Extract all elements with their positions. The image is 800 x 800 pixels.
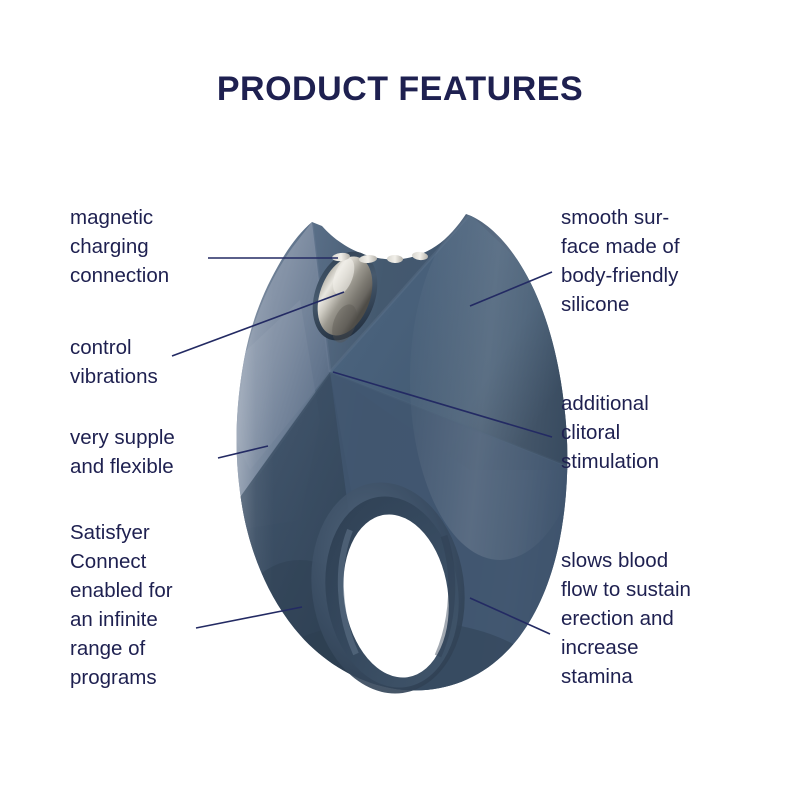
button-face <box>307 249 382 343</box>
facet-upper-left <box>236 222 330 470</box>
callout-additional-clitoral-stimulation: additional clitoral stimulation <box>561 389 659 476</box>
metallic-oval-button <box>301 243 389 350</box>
leader-supple <box>218 446 268 458</box>
ring-hole <box>333 508 459 685</box>
ring-bore <box>298 472 478 703</box>
callout-control-vibrations: control vibrations <box>70 333 158 391</box>
leader-connect <box>196 607 302 628</box>
callout-magnetic-charging-connection: magnetic charging connection <box>70 203 169 290</box>
leader-smooth <box>470 272 552 306</box>
callout-slows-blood-flow: slows blood flow to sustain erection and… <box>561 546 691 691</box>
facet-lower-right <box>330 372 572 694</box>
callout-satisfyer-connect: Satisfyer Connect enabled for an infinit… <box>70 518 173 692</box>
leader-slows <box>470 598 550 634</box>
product-features-infographic: PRODUCT FEATURES magnetic charging conne… <box>0 0 800 800</box>
facet-lower-left <box>238 372 380 700</box>
magnetic-charging-contacts <box>332 251 429 263</box>
callout-smooth-surface-silicone: smooth sur- face made of body-friendly s… <box>561 203 680 319</box>
page-title: PRODUCT FEATURES <box>0 70 800 109</box>
leader-lines <box>172 258 552 634</box>
facet-upper-right <box>330 214 572 470</box>
product-body <box>220 200 600 760</box>
callout-very-supple-and-flexible: very supple and flexible <box>70 423 175 481</box>
leader-additional <box>333 372 552 437</box>
leader-control <box>172 292 344 356</box>
